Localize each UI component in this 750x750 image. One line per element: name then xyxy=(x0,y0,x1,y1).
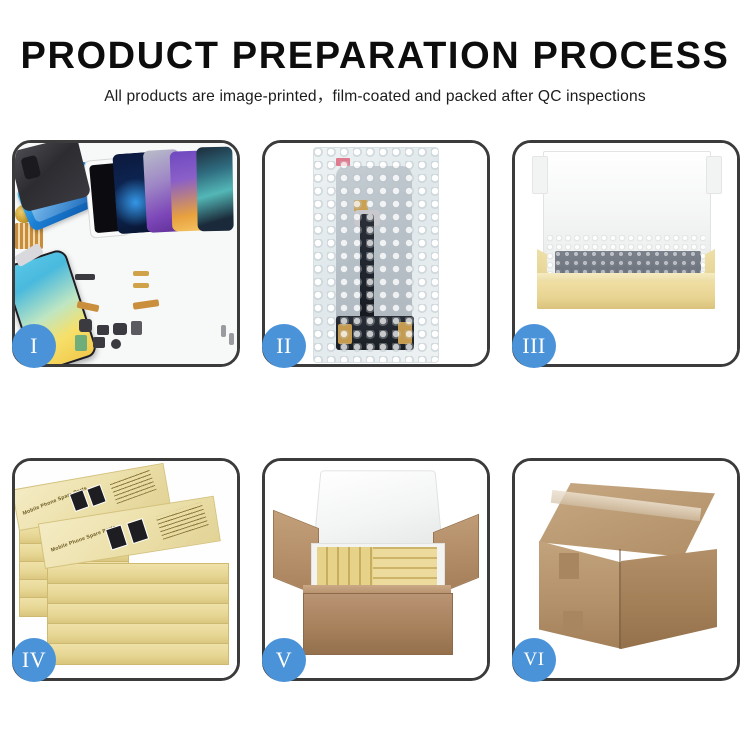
stack-layer-f3 xyxy=(47,603,229,625)
box-stack: Mobile Phone Spare Parts Mobile Phone Sp… xyxy=(19,471,233,671)
small-part-3-icon xyxy=(113,323,127,335)
gold-connector-right-icon xyxy=(398,322,412,344)
carton-front-wall xyxy=(303,593,453,655)
stack-layer-f2 xyxy=(47,583,229,605)
process-step-grid: I II xyxy=(12,140,740,681)
screw-2-icon xyxy=(229,333,234,345)
screw-1-icon xyxy=(221,325,226,337)
carton-tab-2 xyxy=(563,611,583,633)
step-panel-6[interactable]: VI xyxy=(512,458,740,681)
step-panel-1[interactable]: I xyxy=(12,140,240,367)
pink-sticker-icon xyxy=(336,158,350,166)
foam-lid-icon xyxy=(313,470,443,548)
wrapped-screen-icon xyxy=(336,166,412,326)
step-badge-2: II xyxy=(262,324,306,368)
step-panel-4[interactable]: Mobile Phone Spare Parts Mobile Phone Sp… xyxy=(12,458,240,681)
page-subtitle: All products are image-printed，film-coat… xyxy=(0,87,750,107)
step-panel-5[interactable]: V xyxy=(262,458,490,681)
page-title: PRODUCT PREPARATION PROCESS xyxy=(0,34,750,78)
header: PRODUCT PREPARATION PROCESS All products… xyxy=(0,34,750,107)
step-badge-6: VI xyxy=(512,638,556,682)
box-spec-lines-back xyxy=(110,469,157,504)
product-preparation-infographic: PRODUCT PREPARATION PROCESS All products… xyxy=(0,0,750,750)
flex-cable-2-icon xyxy=(133,299,160,310)
part-bar-1-icon xyxy=(75,274,95,280)
small-part-1-icon xyxy=(79,319,92,332)
step-badge-1: I xyxy=(12,324,56,368)
carton-tab-1 xyxy=(559,553,579,579)
box-artwork-swatch-b1 xyxy=(69,489,90,512)
gold-connector-left-icon xyxy=(338,324,352,344)
box-spec-lines-front xyxy=(156,502,209,540)
part-bar-2-icon xyxy=(133,271,149,276)
step-badge-4: IV xyxy=(12,638,56,682)
step-panel-2[interactable]: II xyxy=(262,140,490,367)
carton-vertical-edge xyxy=(619,549,621,649)
bubble-wrap-bag xyxy=(313,147,439,363)
small-part-7-icon xyxy=(111,339,121,349)
kraft-boxes-inside-2 xyxy=(373,547,437,587)
step-badge-5: V xyxy=(262,638,306,682)
small-part-6-icon xyxy=(93,337,105,348)
part-bar-3-icon xyxy=(133,283,149,288)
carton-right-face xyxy=(621,549,717,649)
step-badge-3: III xyxy=(512,324,556,368)
small-part-2-icon xyxy=(97,325,109,335)
small-part-4-icon xyxy=(131,321,142,335)
stack-layer-f1 xyxy=(47,563,229,585)
box-artwork-swatch-f1 xyxy=(105,524,128,550)
stack-layer-f4 xyxy=(47,623,229,645)
screen-flex-cable-icon xyxy=(360,214,374,322)
box-artwork-swatch-f2 xyxy=(126,518,149,544)
box-artwork-swatch-b2 xyxy=(86,484,107,507)
kraft-box-front xyxy=(537,281,715,309)
teal-stripe-screen-icon xyxy=(196,147,233,232)
stack-layer-f5 xyxy=(47,643,229,665)
step-panel-3[interactable]: III xyxy=(512,140,740,367)
battery-part-icon xyxy=(75,335,87,351)
